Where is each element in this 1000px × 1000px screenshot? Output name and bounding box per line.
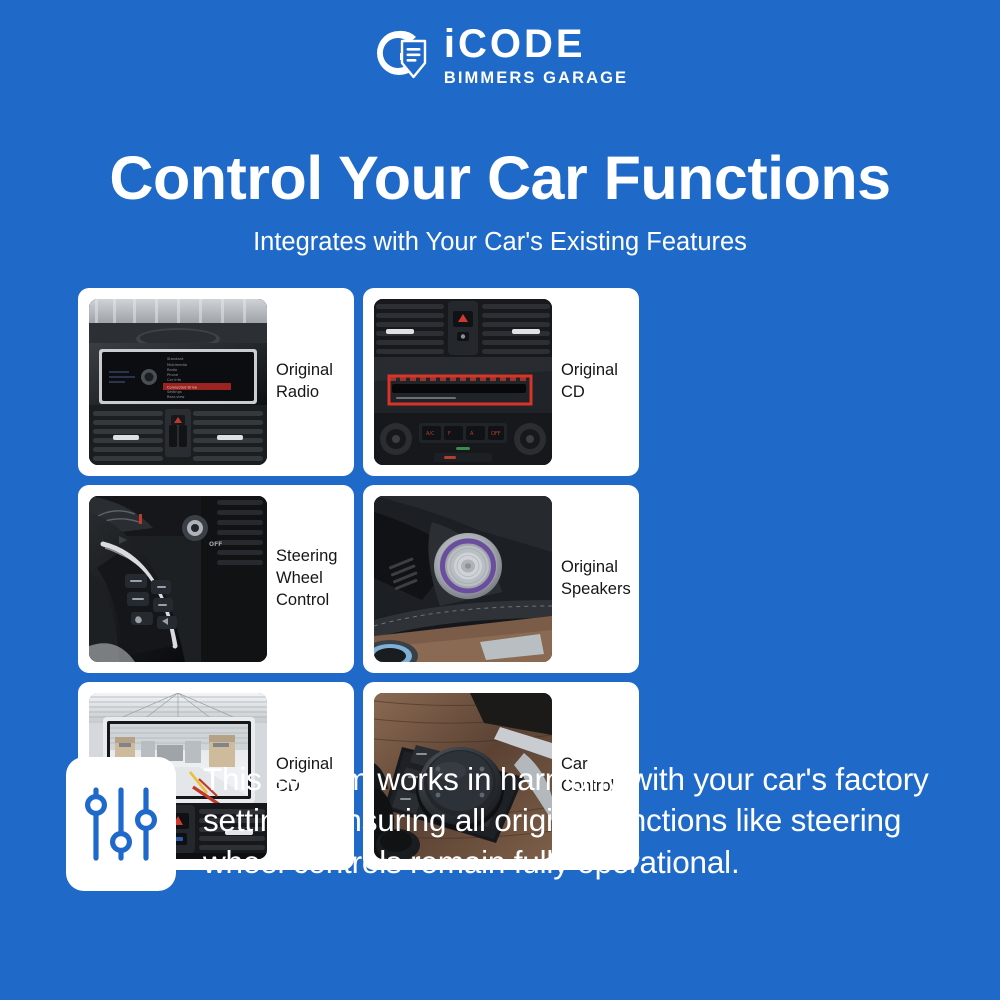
svg-text:A/C: A/C: [426, 431, 435, 437]
brand-name: iCODE: [444, 24, 586, 64]
feature-label: Original CD: [561, 360, 631, 404]
feature-label: Original Radio: [276, 360, 346, 404]
svg-text:Standard: Standard: [167, 357, 183, 361]
svg-text:Car Info: Car Info: [167, 378, 181, 382]
svg-text:A: A: [470, 431, 474, 437]
svg-text:F: F: [448, 431, 451, 437]
bmw-cd-slot-center-console-photo: A/CF AOFF: [374, 299, 552, 465]
svg-text:OFF: OFF: [491, 431, 501, 437]
svg-text:Rear-view: Rear-view: [167, 395, 185, 399]
feature-card[interactable]: A/CF AOFF Original CD: [363, 288, 639, 476]
svg-text:Settings: Settings: [167, 390, 182, 394]
page-subtitle: Integrates with Your Car's Existing Feat…: [0, 228, 1000, 256]
bmw-dashboard-tweeter-speaker-photo: [374, 496, 552, 662]
sliders-equalizer-icon: [66, 757, 176, 891]
page-title: Control Your Car Functions: [0, 146, 1000, 210]
feature-card[interactable]: Standard Multimedia Radio Phone Car Info…: [78, 288, 354, 476]
svg-text:Radio: Radio: [167, 368, 177, 372]
summary-text: This system works in harmony with your c…: [203, 757, 934, 883]
feature-label: Original Speakers: [561, 557, 631, 601]
svg-text:Connected Drive: Connected Drive: [167, 385, 198, 389]
svg-text:Phone: Phone: [167, 373, 179, 377]
feature-card[interactable]: Original Speakers: [363, 485, 639, 673]
feature-card[interactable]: OFF: [78, 485, 354, 673]
svg-text:OFF: OFF: [209, 541, 222, 548]
brand-header: iCODE BIMMERS GARAGE: [0, 0, 1000, 110]
brand-tagline: BIMMERS GARAGE: [444, 70, 628, 87]
svg-text:Multimedia: Multimedia: [167, 363, 187, 367]
icode-g-shield-logo-icon: [372, 27, 430, 83]
brand-wordmark: iCODE BIMMERS GARAGE: [444, 24, 628, 87]
bmw-steering-wheel-buttons-photo: OFF: [89, 496, 267, 662]
feature-label: Steering Wheel Control: [276, 546, 346, 611]
summary-callout: This system works in harmony with your c…: [66, 757, 934, 891]
bmw-head-unit-radio-display-photo: Standard Multimedia Radio Phone Car Info…: [89, 299, 267, 465]
